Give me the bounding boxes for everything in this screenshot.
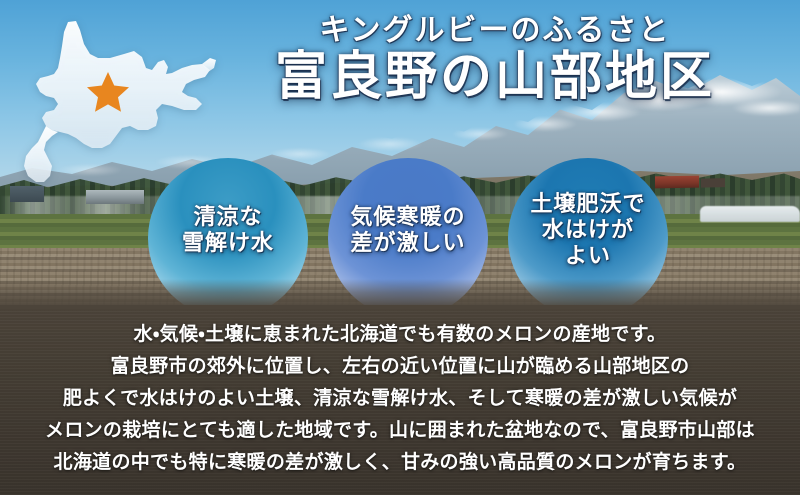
circle-fertile-soil-line-2: 水はけが [542, 217, 634, 242]
description-line-3: 肥よくで水はけのよい土壌、清涼な雪解け水、そして寒暖の差が激しい気候が [0, 383, 800, 415]
circle-cool-water-line-2: 雪解け水 [182, 230, 274, 255]
description-line-2: 富良野市の郊外に位置し、左右の近い位置に山が臨める山部地区の [0, 351, 800, 383]
circle-fertile-soil-label: 土壌肥沃で 水はけが よい [530, 191, 645, 285]
description-panel: 水・気候・土壌に恵まれた北海道でも有数のメロンの産地です。 富良野市の郊外に位置… [0, 305, 800, 495]
circle-fertile-soil-line-1: 土壌肥沃で [530, 191, 645, 216]
circle-fertile-soil-line-3: よい [565, 243, 611, 268]
description-line-4: メロンの栽培にとても適した地域です。山に囲まれた盆地なので、富良野市山部は [0, 415, 800, 447]
description-line-5: 北海道の中でも特に寒暖の差が激しく、甘みの強い高品質のメロンが育ちます。 [0, 447, 800, 479]
circle-cool-water-label: 清涼な 雪解け水 [182, 204, 274, 272]
circle-temp-range-label: 気候寒暖の 差が激しい [350, 204, 465, 272]
promo-banner: キングルビーのふるさと 富良野の山部地区 清涼な 雪解け水 気候寒暖の 差が激し… [0, 0, 800, 495]
page-title: キングルビーのふるさと 富良野の山部地区 [200, 16, 790, 104]
description-text-block: 水・気候・土壌に恵まれた北海道でも有数のメロンの産地です。 富良野市の郊外に位置… [0, 319, 800, 479]
hokkaido-oshima-peninsula-path [24, 126, 58, 182]
hokkaido-silhouette-path [36, 21, 210, 148]
red-roof-building [655, 176, 699, 189]
circle-cool-water-line-1: 清涼な [193, 204, 262, 229]
headline-subtitle: キングルビーのふるさと [200, 16, 790, 46]
description-line-1: 水・気候・土壌に恵まれた北海道でも有数のメロンの産地です。 [0, 319, 800, 351]
circle-temp-range-line-1: 気候寒暖の [350, 204, 465, 229]
snow-bank [700, 206, 800, 222]
headline-main: 富良野の山部地区 [200, 52, 790, 104]
circle-temp-range-line-2: 差が激しい [350, 230, 465, 255]
